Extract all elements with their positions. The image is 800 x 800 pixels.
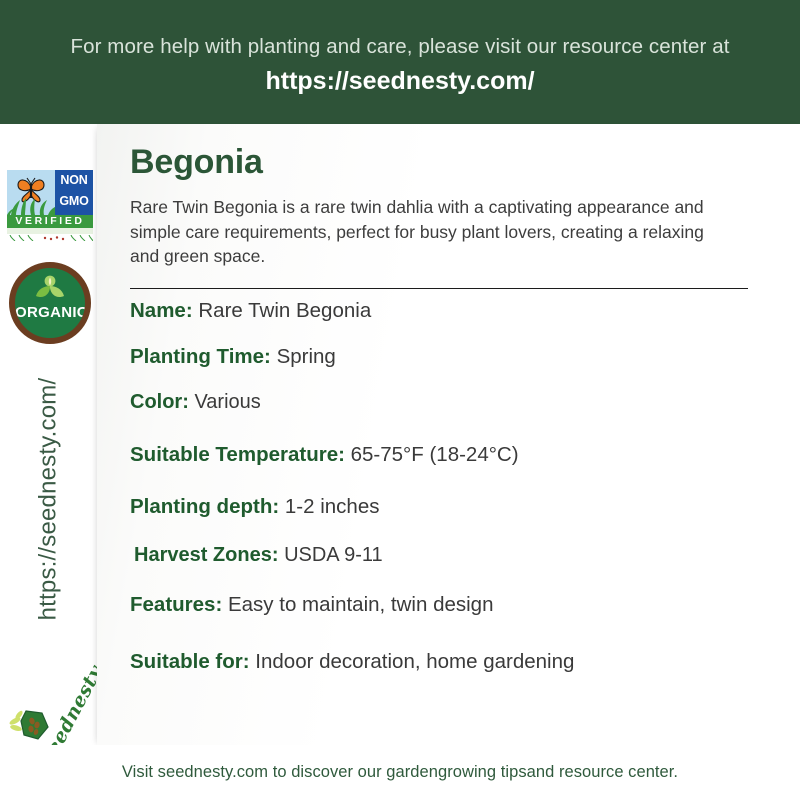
grass-icon — [7, 198, 55, 215]
spec-row-planting-time: Planting Time: Spring — [130, 346, 748, 369]
sidebar-vertical-url[interactable]: https://seednesty.com/ — [0, 334, 97, 664]
verified-label: VERIFIED — [7, 215, 93, 228]
non-gmo-badge-top: NON GMO — [7, 170, 93, 215]
spec-row-suitable-for: Suitable for: Indoor decoration, home ga… — [130, 651, 748, 674]
organic-badge: ORGANIC — [9, 262, 91, 344]
roots-icon — [7, 235, 93, 241]
spec-label: Name: — [130, 299, 193, 322]
spec-value: Spring — [277, 345, 336, 368]
leaf-emblem-icon — [35, 275, 65, 301]
spec-row-color: Color: Various — [130, 391, 748, 413]
roots-decoration-icon — [7, 228, 93, 234]
grass-blades-icon — [7, 198, 55, 215]
header-help-text: For more help with planting and care, pl… — [70, 34, 729, 60]
page-title: Begonia — [130, 143, 748, 182]
spec-label: Harvest Zones: — [134, 544, 279, 566]
gmo-label: GMO — [55, 191, 93, 212]
spec-row-suitable-temperature: Suitable Temperature: 65-75°F (18-24°C) — [130, 444, 748, 467]
non-label: NON — [55, 170, 93, 191]
footer: Visit seednesty.com to discover our gard… — [0, 745, 800, 800]
product-description: Rare Twin Begonia is a rare twin dahlia … — [130, 195, 737, 269]
spec-label: Color: — [130, 391, 189, 413]
spec-label: Suitable for: — [130, 650, 250, 673]
spec-value: Easy to maintain, twin design — [228, 593, 494, 616]
footer-text: Visit seednesty.com to discover our gard… — [122, 763, 678, 782]
spec-label: Planting Time: — [130, 345, 271, 368]
section-divider — [130, 288, 748, 289]
non-gmo-text-block: NON GMO — [55, 170, 93, 215]
spec-label: Planting depth: — [130, 495, 279, 518]
non-gmo-verified-badge: NON GMO VERIFIED — [7, 170, 93, 234]
spec-value: 1-2 inches — [285, 495, 380, 518]
spec-row-features: Features: Easy to maintain, twin design — [130, 594, 748, 617]
spec-row-planting-depth: Planting depth: 1-2 inches — [130, 496, 748, 519]
header-website-url[interactable]: https://seednesty.com/ — [265, 67, 534, 96]
sidebar: NON GMO VERIFIED — [0, 124, 97, 800]
spec-label: Suitable Temperature: — [130, 443, 345, 466]
spec-value: Various — [194, 391, 260, 413]
brand-wordmark: seednesty — [40, 683, 104, 747]
product-info-card: Begonia Rare Twin Begonia is a rare twin… — [97, 124, 800, 745]
spec-list: Name: Rare Twin Begonia Planting Time: S… — [130, 300, 748, 673]
spec-label: Features: — [130, 593, 222, 616]
spec-row-name: Name: Rare Twin Begonia — [130, 300, 748, 323]
spec-value: 65-75°F (18-24°C) — [351, 443, 519, 466]
header-banner: For more help with planting and care, pl… — [0, 0, 800, 124]
spec-value: USDA 9-11 — [284, 544, 383, 566]
spec-value: Indoor decoration, home gardening — [255, 650, 574, 673]
spec-row-harvest-zones: Harvest Zones: USDA 9-11 — [130, 544, 748, 566]
sidebar-url-text: https://seednesty.com/ — [35, 378, 63, 621]
spec-value: Rare Twin Begonia — [198, 299, 371, 322]
leaf-sprout-icon — [35, 275, 65, 301]
organic-label: ORGANIC — [15, 304, 85, 321]
